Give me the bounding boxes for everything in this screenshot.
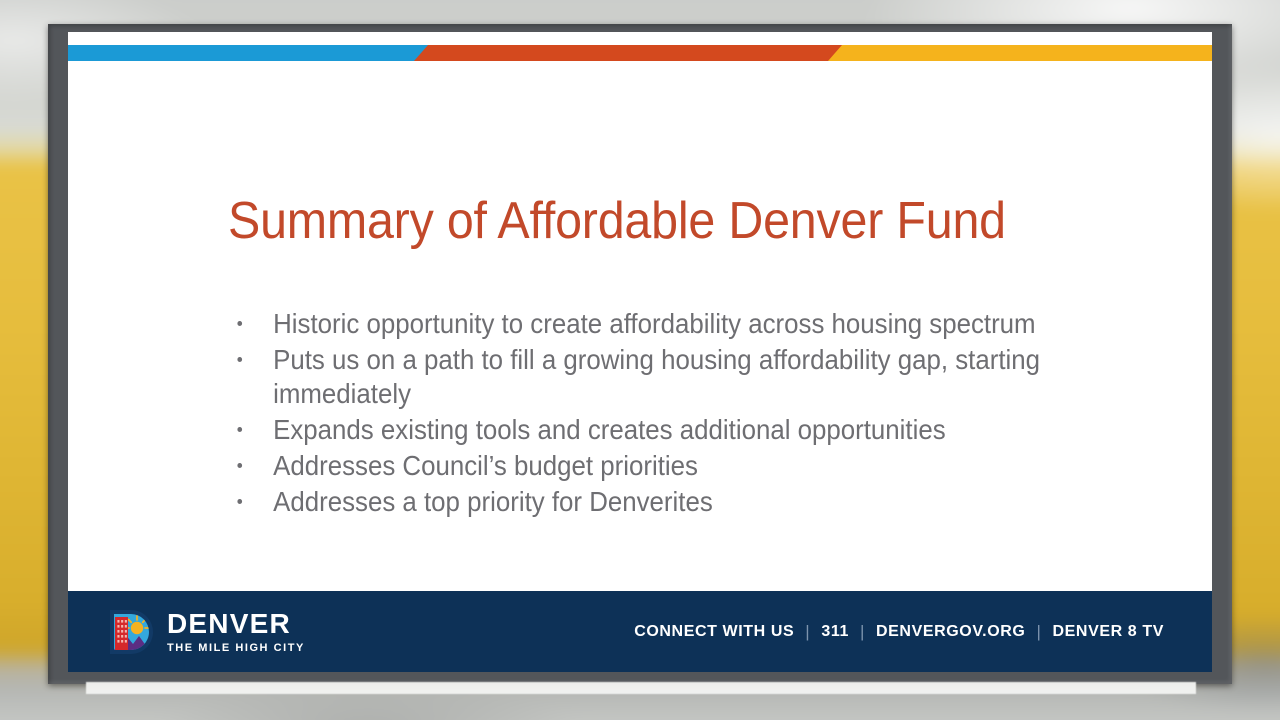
accent-segment-yellow bbox=[828, 45, 1212, 61]
connect-label: CONNECT WITH US bbox=[634, 623, 794, 641]
bullet-dot-icon bbox=[237, 427, 242, 432]
connect-separator: | bbox=[1036, 622, 1041, 642]
bullet-dot-icon bbox=[237, 321, 242, 326]
bullet-item: Expands existing tools and creates addit… bbox=[228, 413, 1074, 447]
denver-wordmark-title: DENVER bbox=[167, 610, 305, 638]
accent-segment-blue bbox=[68, 45, 434, 61]
connect-separator: | bbox=[860, 622, 865, 642]
connect-item-311: 311 bbox=[821, 623, 849, 641]
slide-title: Summary of Affordable Denver Fund bbox=[228, 189, 1046, 254]
denver-d-logo-icon bbox=[107, 608, 155, 656]
bullet-text: Puts us on a path to fill a growing hous… bbox=[273, 344, 1040, 409]
connect-item-denvergov: DENVERGOV.ORG bbox=[876, 623, 1025, 641]
accent-segment-red bbox=[414, 45, 848, 61]
connect-with-us-strip: CONNECT WITH US | 311 | DENVERGOV.ORG | … bbox=[634, 622, 1164, 642]
bullet-text: Historic opportunity to create affordabi… bbox=[273, 308, 1035, 339]
frame-bottom-strip bbox=[86, 682, 1196, 694]
connect-item-denver8tv: DENVER 8 TV bbox=[1052, 623, 1164, 641]
accent-bar bbox=[68, 45, 1212, 61]
bullet-item: Puts us on a path to fill a growing hous… bbox=[228, 343, 1074, 411]
screenshot-stage: Summary of Affordable Denver Fund Histor… bbox=[0, 0, 1280, 720]
bullet-item: Addresses Council’s budget priorities bbox=[228, 449, 1074, 483]
bullet-dot-icon bbox=[237, 499, 242, 504]
bullet-text: Addresses Council’s budget priorities bbox=[273, 450, 698, 481]
bullet-item: Historic opportunity to create affordabi… bbox=[228, 307, 1074, 341]
denver-logo-lockup: DENVER THE MILE HIGH CITY bbox=[107, 608, 305, 656]
bullet-item: Addresses a top priority for Denverites bbox=[228, 485, 1074, 519]
denver-wordmark: DENVER THE MILE HIGH CITY bbox=[167, 610, 305, 654]
slide-bullet-list: Historic opportunity to create affordabi… bbox=[228, 307, 1128, 521]
bullet-text: Expands existing tools and creates addit… bbox=[273, 414, 946, 445]
bullet-text: Addresses a top priority for Denverites bbox=[273, 486, 713, 517]
bullet-dot-icon bbox=[237, 463, 242, 468]
slide-footer: DENVER THE MILE HIGH CITY CONNECT WITH U… bbox=[68, 591, 1212, 672]
connect-separator: | bbox=[805, 622, 810, 642]
denver-wordmark-tagline: THE MILE HIGH CITY bbox=[167, 643, 305, 654]
bullet-dot-icon bbox=[237, 357, 242, 362]
presentation-slide: Summary of Affordable Denver Fund Histor… bbox=[68, 32, 1212, 672]
